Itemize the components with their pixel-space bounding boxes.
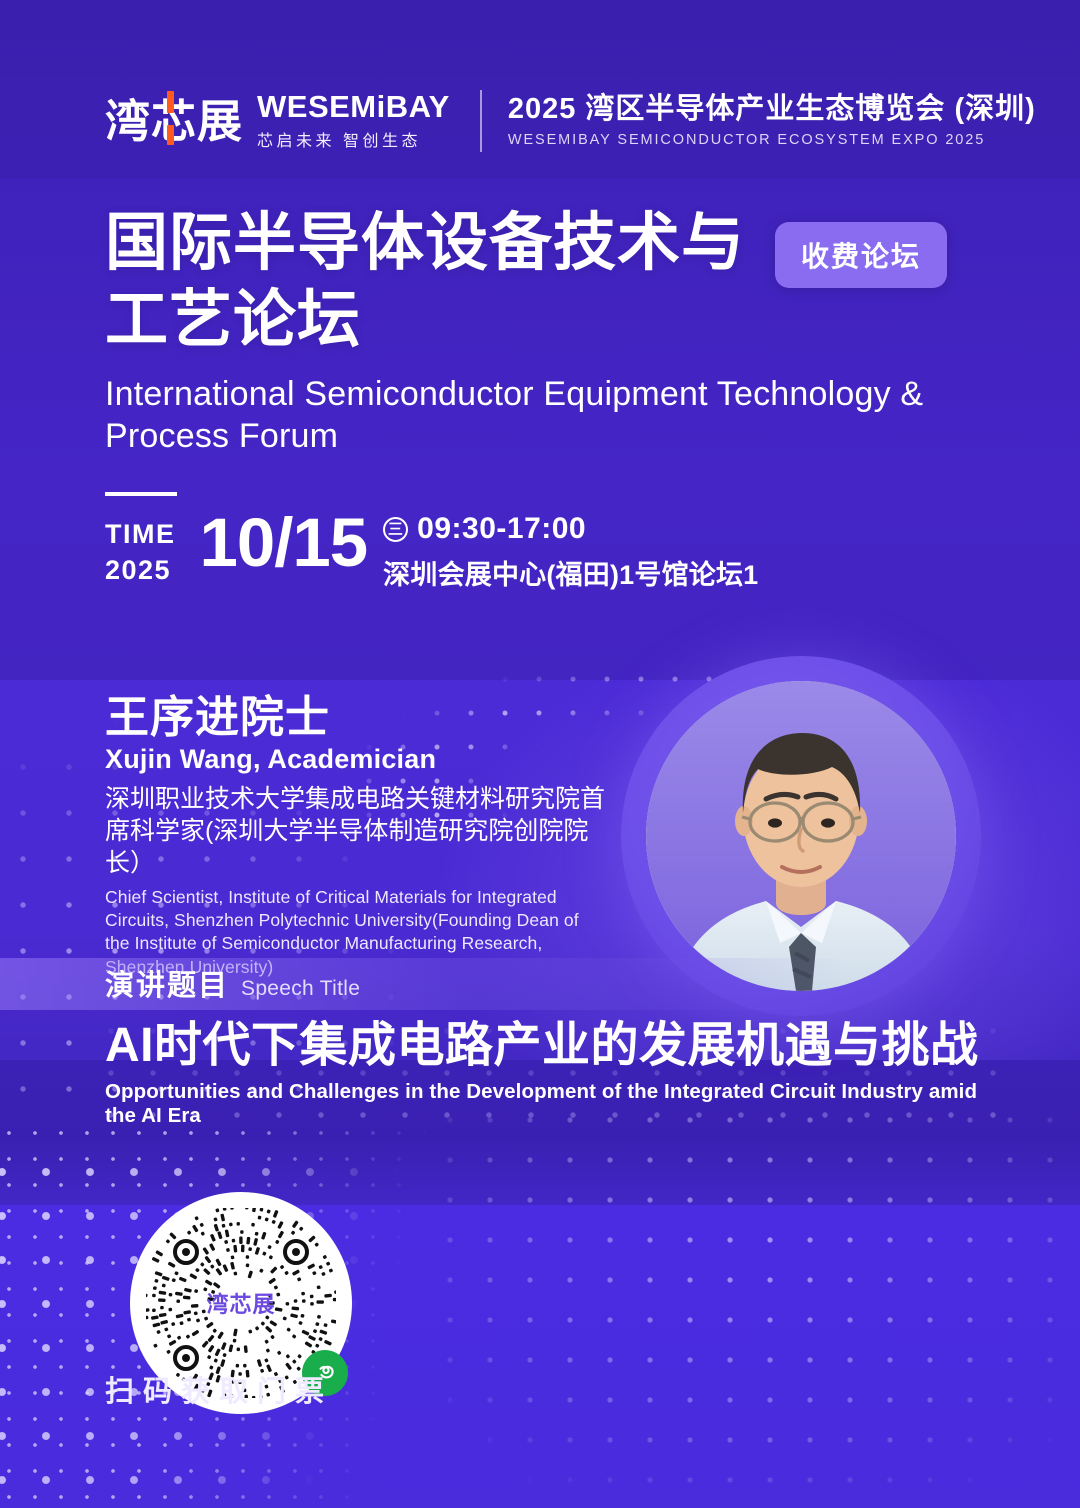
speech-label-chinese: 演讲题目 bbox=[105, 962, 229, 1004]
paid-forum-badge: 收费论坛 bbox=[775, 222, 947, 288]
expo-title-english: WESEMIBAY SEMICONDUCTOR ECOSYSTEM EXPO 2… bbox=[508, 132, 1036, 148]
time-rule-divider bbox=[105, 492, 177, 496]
speaker-affiliation-chinese: 深圳职业技术大学集成电路关键材料研究院首席科学家(深圳大学半导体制造研究院创院院… bbox=[105, 783, 605, 879]
time-label: TIME 2025 bbox=[105, 516, 176, 589]
time-label-line1: TIME bbox=[105, 516, 176, 552]
qr-caption: 扫码获取门票 bbox=[105, 1368, 333, 1410]
forum-title-chinese: 国际半导体设备技术与 工艺论坛 bbox=[105, 205, 745, 359]
forum-title-block: 国际半导体设备技术与 工艺论坛 收费论坛 International Semic… bbox=[105, 205, 1005, 457]
speech-label-block: 演讲题目 Speech Title bbox=[105, 962, 360, 1004]
speaker-info-block: 王序进院士 Xujin Wang, Academician 深圳职业技术大学集成… bbox=[105, 695, 605, 979]
forum-title-english: International Semiconductor Equipment Te… bbox=[105, 373, 1005, 457]
expo-title-chinese: 2025 湾区半导体产业生态博览会 (深圳) bbox=[508, 94, 1036, 126]
speaker-name-chinese: 王序进院士 bbox=[105, 695, 605, 741]
header-divider bbox=[480, 90, 482, 152]
speech-label-english: Speech Title bbox=[241, 977, 360, 1001]
speaker-portrait bbox=[646, 681, 956, 991]
brand-logo-english-block: WESEMiBAY 芯启未来 智创生态 bbox=[257, 91, 450, 152]
brand-logo-english: WESEMiBAY bbox=[257, 91, 450, 124]
event-time-block: TIME 2025 10/15 三 09:30-17:00 深圳会展中心(福田)… bbox=[105, 492, 758, 592]
forum-title-row: 国际半导体设备技术与 工艺论坛 收费论坛 bbox=[105, 205, 1005, 359]
poster-header: 湾芯展 WESEMiBAY 芯启未来 智创生态 2025 湾区半导体产业生态博览… bbox=[105, 90, 1036, 152]
time-label-line2: 2025 bbox=[105, 552, 176, 588]
brand-slogan: 芯启未来 智创生态 bbox=[257, 127, 450, 151]
time-row: TIME 2025 10/15 三 09:30-17:00 深圳会展中心(福田)… bbox=[105, 510, 758, 592]
brand-logo-chinese: 湾芯展 bbox=[105, 99, 243, 144]
brand-logo-chinese-text: 湾芯展 bbox=[105, 96, 243, 147]
speech-title-chinese: AI时代下集成电路产业的发展机遇与挑战 bbox=[105, 1018, 1005, 1074]
event-hours-row: 三 09:30-17:00 bbox=[383, 512, 758, 546]
speech-title-english: Opportunities and Challenges in the Deve… bbox=[105, 1080, 1005, 1128]
event-hours: 09:30-17:00 bbox=[417, 512, 586, 546]
time-details: 三 09:30-17:00 深圳会展中心(福田)1号馆论坛1 bbox=[383, 512, 758, 592]
logo-accent-mark-top bbox=[167, 91, 174, 113]
poster-canvas: 湾芯展 WESEMiBAY 芯启未来 智创生态 2025 湾区半导体产业生态博览… bbox=[0, 0, 1080, 1508]
event-venue: 深圳会展中心(福田)1号馆论坛1 bbox=[383, 553, 758, 592]
forum-title-chinese-line1: 国际半导体设备技术与 bbox=[105, 205, 745, 282]
expo-title-block: 2025 湾区半导体产业生态博览会 (深圳) WESEMIBAY SEMICON… bbox=[508, 94, 1036, 149]
logo-accent-mark-bottom bbox=[167, 125, 174, 145]
weekday-icon: 三 bbox=[383, 517, 408, 542]
speaker-name-english: Xujin Wang, Academician bbox=[105, 743, 605, 775]
event-date: 10/15 bbox=[200, 510, 368, 576]
qr-center-logo: 湾芯展 bbox=[206, 1287, 275, 1319]
speaker-portrait-illustration bbox=[646, 681, 956, 991]
forum-title-chinese-line2: 工艺论坛 bbox=[105, 282, 745, 359]
